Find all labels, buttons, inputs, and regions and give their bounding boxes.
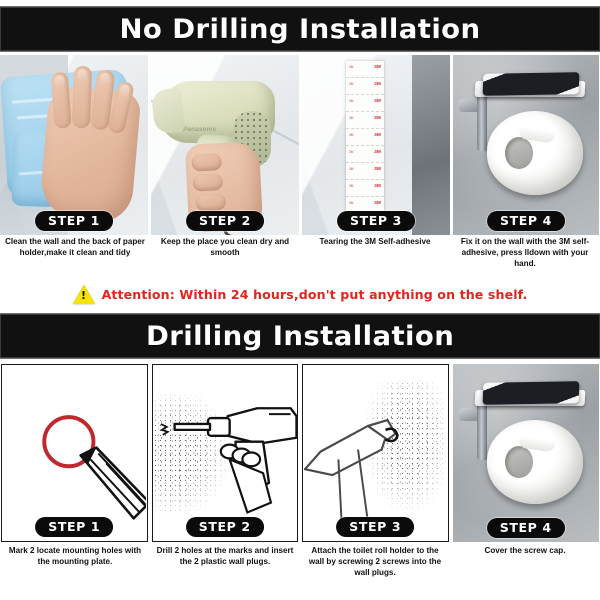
lineart-panel-row: STEP 1 <box>0 364 600 544</box>
toilet-paper-roll <box>487 420 583 504</box>
wall-mounting-plate <box>459 99 479 112</box>
attention-notice: Attention: Within 24 hours,don't put any… <box>0 280 600 308</box>
wall-mounting-plate <box>459 408 479 421</box>
warning-triangle-icon <box>73 285 95 304</box>
step-badge: STEP 3 <box>336 517 414 537</box>
step-badge: STEP 2 <box>186 517 264 537</box>
instruction-sheet: No Drilling Installation STEP 1 <box>0 0 600 600</box>
caption-row-drilling: Mark 2 locate mounting holes with the mo… <box>0 546 600 579</box>
hand <box>38 85 141 225</box>
smartphone <box>482 381 579 405</box>
step-panel-3-tear-adhesive: 3M3M 3M3M 3M3M 3M3M 3M3M 3M3M 3M3M 3M3M … <box>302 55 450 235</box>
electric-drill-illustration <box>153 365 297 540</box>
section-title-no-drilling: No Drilling Installation <box>119 14 480 45</box>
section-title-band-drilling: Drilling Installation <box>0 313 600 359</box>
step-badge: STEP 1 <box>35 517 113 537</box>
step-badge: STEP 4 <box>487 211 565 231</box>
hammer-illustration <box>303 365 447 540</box>
step-panel-4-fix-on-wall: STEP 4 <box>453 55 599 235</box>
step-badge: STEP 2 <box>186 211 264 231</box>
section-title-band-no-drilling: No Drilling Installation <box>0 6 600 52</box>
pencil-marking-illustration <box>2 365 146 540</box>
step-caption: Mark 2 locate mounting holes with the mo… <box>0 546 150 579</box>
adhesive-strip: 3M3M 3M3M 3M3M 3M3M 3M3M 3M3M 3M3M 3M3M … <box>346 61 384 221</box>
step-panel-4-cover-screw-cap: STEP 4 <box>453 364 600 542</box>
step-panel-3-attach-holder: STEP 3 <box>302 364 449 542</box>
step-caption: Clean the wall and the back of paper hol… <box>0 237 150 270</box>
attention-text: Attention: Within 24 hours,don't put any… <box>102 287 528 302</box>
holder-bracket <box>477 94 487 151</box>
step-caption: Drill 2 holes at the marks and insert th… <box>150 546 300 579</box>
hair-dryer-brand-label: Panasonic <box>183 127 217 133</box>
smartphone <box>483 72 580 96</box>
step-panel-2-drill-holes: STEP 2 <box>152 364 299 542</box>
step-caption: Attach the toilet roll holder to the wal… <box>300 546 450 579</box>
section-title-drilling: Drilling Installation <box>146 321 454 352</box>
step-caption: Fix it on the wall with the 3M self-adhe… <box>450 237 600 270</box>
step-panel-2-dry-wall: Panasonic STEP 2 <box>151 55 299 235</box>
step-caption: Cover the screw cap. <box>450 546 600 579</box>
caption-row-no-drilling: Clean the wall and the back of paper hol… <box>0 237 600 270</box>
step-badge: STEP 1 <box>35 211 113 231</box>
step-badge: STEP 3 <box>337 211 415 231</box>
step-panel-1-mark-holes: STEP 1 <box>1 364 148 542</box>
holder-bracket <box>477 403 487 460</box>
step-caption: Tearing the 3M Self-adhesive <box>300 237 450 270</box>
strip-logo: 3M <box>374 64 381 69</box>
step-panel-1-clean-wall: STEP 1 <box>0 55 148 235</box>
step-badge: STEP 4 <box>487 518 565 538</box>
toilet-paper-roll <box>487 111 583 195</box>
photo-panel-row: STEP 1 Panasonic STEP 2 <box>0 55 600 235</box>
step-caption: Keep the place you clean dry and smooth <box>150 237 300 270</box>
